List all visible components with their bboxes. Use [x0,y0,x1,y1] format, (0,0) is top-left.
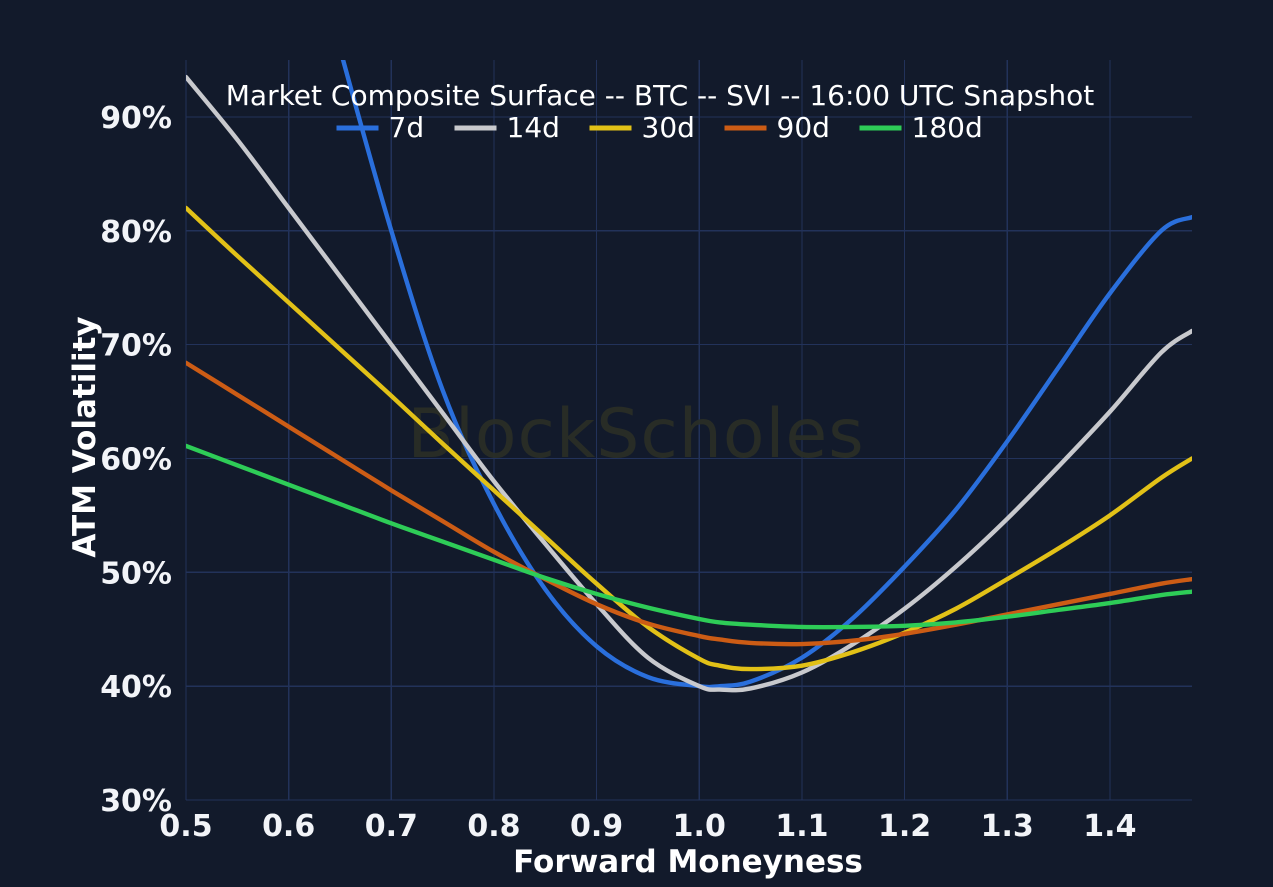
legend-label-180d[interactable]: 180d [912,111,983,144]
x-tick-label: 0.9 [570,809,623,844]
x-tick-label: 1.3 [981,809,1034,844]
x-axis-title: Forward Moneyness [513,844,863,880]
legend-label-14d[interactable]: 14d [507,111,560,144]
y-tick-label: 70% [100,329,172,364]
y-tick-label: 60% [100,442,172,477]
x-tick-label: 1.4 [1083,809,1136,844]
y-tick-label: 80% [100,215,172,250]
y-tick-label: 30% [100,784,172,819]
watermark-label: BlockScholes [407,395,864,474]
x-tick-label: 1.1 [775,809,828,844]
y-axis-title: ATM Volatility [67,316,103,557]
y-tick-label: 50% [100,556,172,591]
x-tick-label: 0.6 [262,809,315,844]
x-tick-label: 0.7 [365,809,418,844]
volatility-smile-chart: BlockScholes 0.50.60.70.80.91.01.11.21.3… [0,0,1273,887]
y-tick-label: 40% [100,670,172,705]
x-tick-label: 1.0 [673,809,726,844]
x-tick-label: 1.2 [878,809,931,844]
chart-title: Market Composite Surface -- BTC -- SVI -… [226,79,1095,112]
x-tick-label: 0.8 [467,809,520,844]
watermark: BlockScholes [407,395,864,474]
legend-label-30d[interactable]: 30d [642,111,695,144]
legend-label-90d[interactable]: 90d [777,111,830,144]
legend-label-7d[interactable]: 7d [389,111,425,144]
y-tick-label: 90% [100,101,172,136]
chart-app: BlockScholes 0.50.60.70.80.91.01.11.21.3… [0,0,1273,887]
